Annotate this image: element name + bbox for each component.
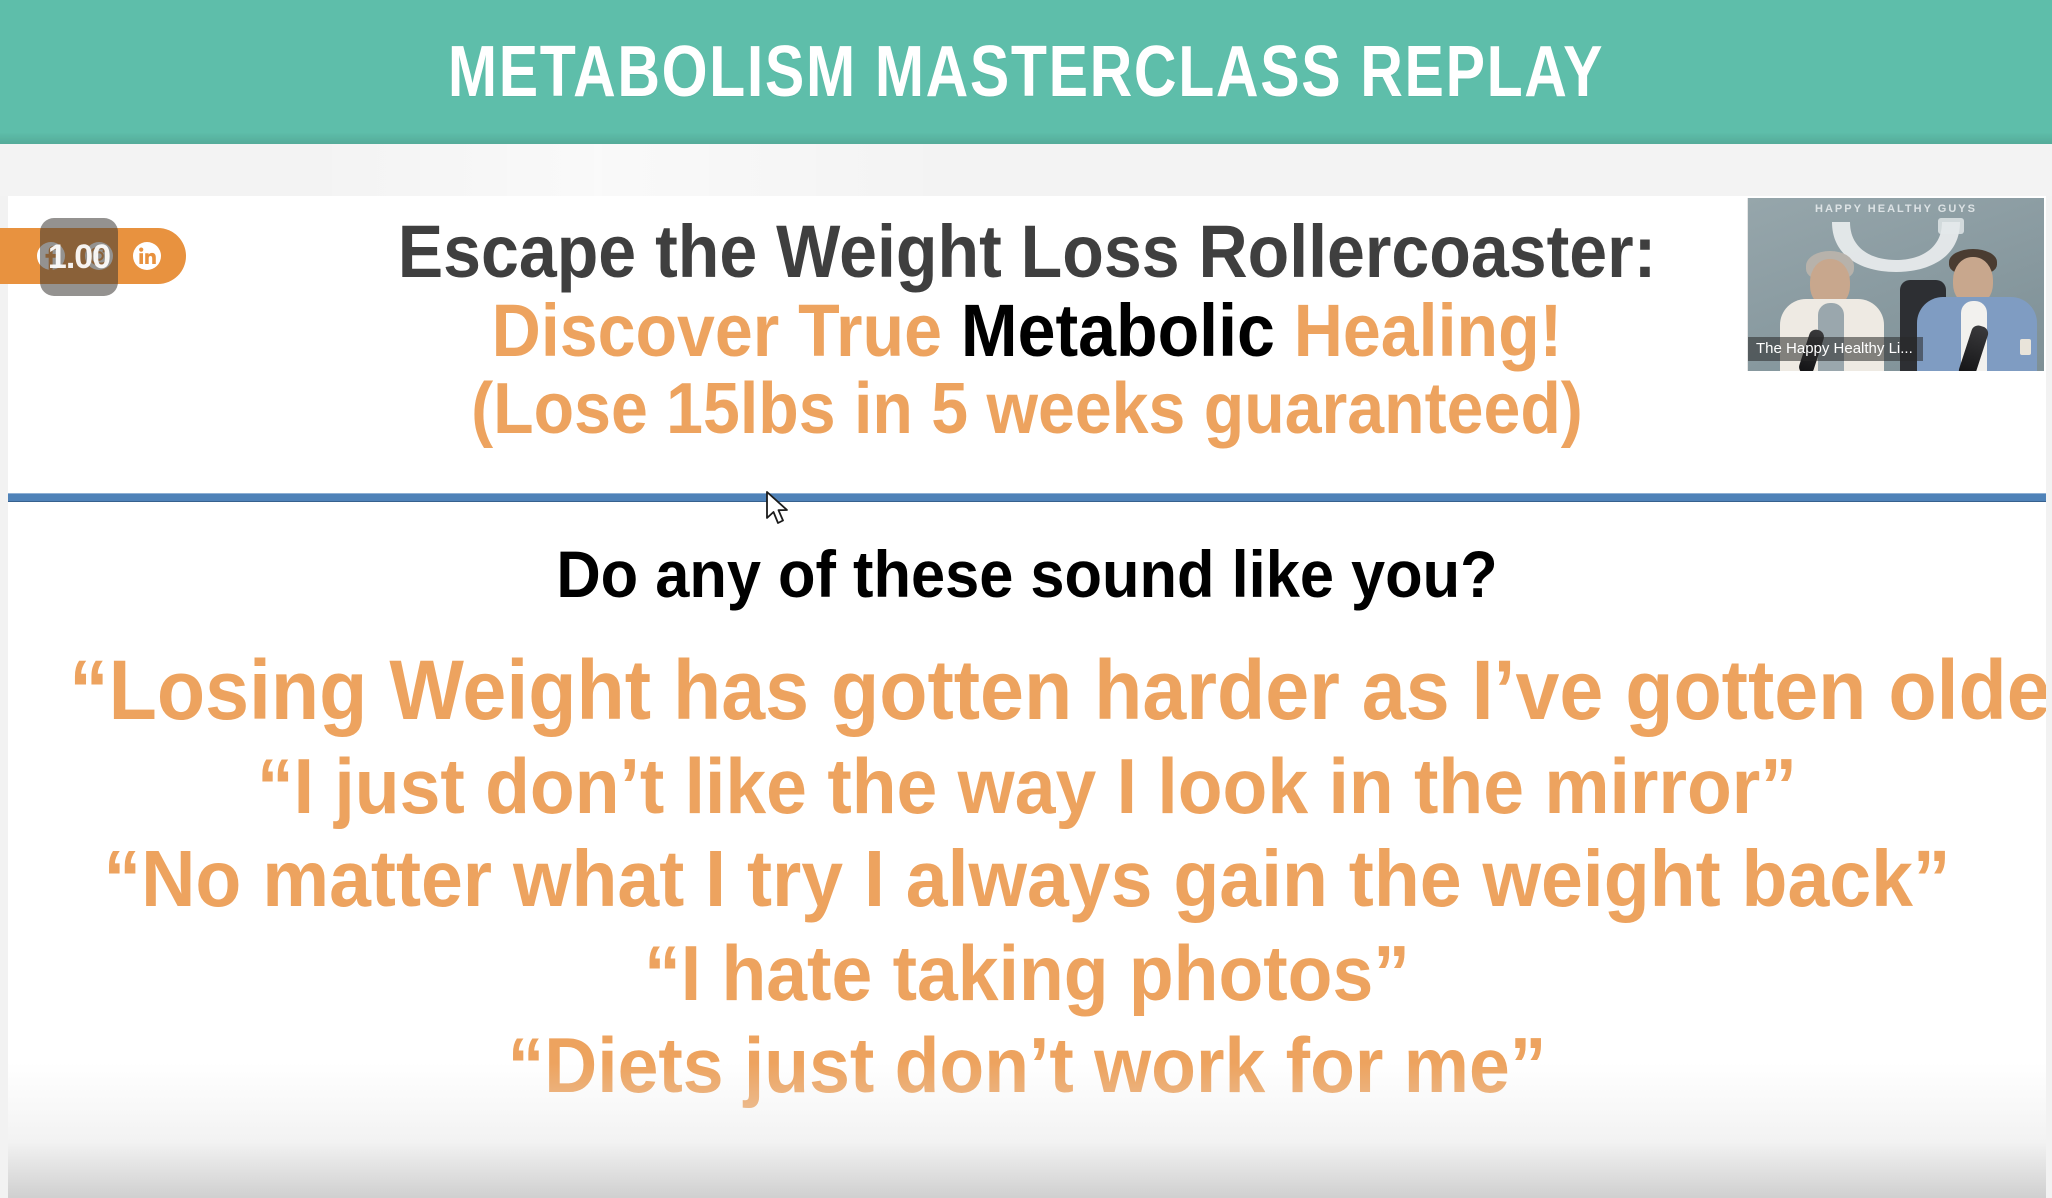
page-banner: METABOLISM MASTERCLASS REPLAY <box>0 0 2052 144</box>
quote-line: “I just don’t like the way I look in the… <box>69 740 1985 832</box>
headline-line-3: (Lose 15lbs in 5 weeks guaranteed) <box>90 373 1965 446</box>
section-divider <box>8 493 2046 502</box>
page-title: METABOLISM MASTERCLASS REPLAY <box>448 36 1604 108</box>
pain-point-quote-list: “Losing Weight has gotten harder as I’ve… <box>8 641 2046 1111</box>
pip-caption: The Happy Healthy Li... <box>1748 337 1923 361</box>
pip-wall-outlet <box>2020 339 2031 355</box>
slide-headline: Escape the Weight Loss Rollercoaster: Di… <box>8 214 2046 446</box>
headline-line-2: Discover True Metabolic Healing! <box>90 293 1965 368</box>
linkedin-icon[interactable] <box>130 239 164 273</box>
viewer-gap-strip <box>0 144 2052 196</box>
quote-line: “Diets just don’t work for me” <box>69 1019 1985 1111</box>
headline-line-2-part-2: Metabolic <box>961 289 1275 372</box>
playback-speed-badge[interactable]: 1.00 <box>40 218 118 296</box>
headline-line-2-part-1: Discover True <box>492 289 961 372</box>
video-pip-thumbnail[interactable]: HAPPY HEALTHY GUYS The Happy Health <box>1747 198 2044 371</box>
headline-line-1: Escape the Weight Loss Rollercoaster: <box>90 214 1965 289</box>
quote-line: “Losing Weight has gotten harder as I’ve… <box>69 641 1985 740</box>
slide-stage[interactable]: Escape the Weight Loss Rollercoaster: Di… <box>8 196 2046 1198</box>
headline-line-2-part-3: Healing! <box>1275 289 1562 372</box>
pip-wall-brand-text: HAPPY HEALTHY GUYS <box>1748 203 2044 215</box>
quote-line: “No matter what I try I always gain the … <box>69 832 1985 926</box>
quote-line: “I hate taking photos” <box>69 927 1985 1019</box>
slide-subheading: Do any of these sound like you? <box>79 536 1974 612</box>
